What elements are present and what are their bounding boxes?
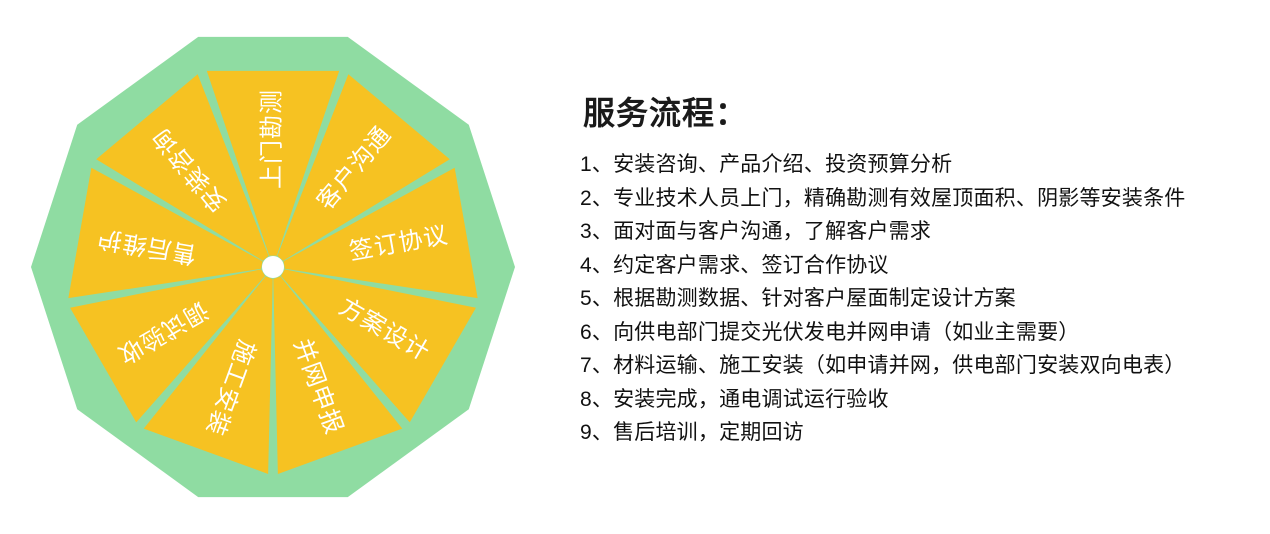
service-flow-wheel-diagram: 上门勘测客户沟通签订协议方案设计并网申报施工安装调试验收售后维护安装咨询 xyxy=(0,0,560,534)
service-step-item: 3、面对面与客户沟通，了解客户需求 xyxy=(580,215,1270,249)
wheel-wedge-label: 上门勘测 xyxy=(258,89,285,189)
service-step-item: 9、售后培训，定期回访 xyxy=(580,416,1270,450)
page-root: 上门勘测客户沟通签订协议方案设计并网申报施工安装调试验收售后维护安装咨询 服务流… xyxy=(0,0,1270,534)
service-step-item: 7、材料运输、施工安装（如申请并网，供电部门安装双向电表） xyxy=(580,349,1270,383)
service-steps-list: 1、安装咨询、产品介绍、投资预算分析2、专业技术人员上门，精确勘测有效屋顶面积、… xyxy=(580,148,1270,450)
service-step-item: 4、约定客户需求、签订合作协议 xyxy=(580,249,1270,283)
wheel-svg: 上门勘测客户沟通签订协议方案设计并网申报施工安装调试验收售后维护安装咨询 xyxy=(0,0,560,534)
service-step-item: 6、向供电部门提交光伏发电并网申请（如业主需要） xyxy=(580,316,1270,350)
service-flow-text-panel: 服务流程： 1、安装咨询、产品介绍、投资预算分析2、专业技术人员上门，精确勘测有… xyxy=(580,0,1270,534)
service-step-item: 5、根据勘测数据、针对客户屋面制定设计方案 xyxy=(580,282,1270,316)
service-step-item: 8、安装完成，通电调试运行验收 xyxy=(580,383,1270,417)
page-title: 服务流程： xyxy=(583,93,748,133)
service-step-item: 2、专业技术人员上门，精确勘测有效屋顶面积、阴影等安装条件 xyxy=(580,182,1270,216)
wheel-hub-circle xyxy=(262,256,284,278)
service-step-item: 1、安装咨询、产品介绍、投资预算分析 xyxy=(580,148,1270,182)
